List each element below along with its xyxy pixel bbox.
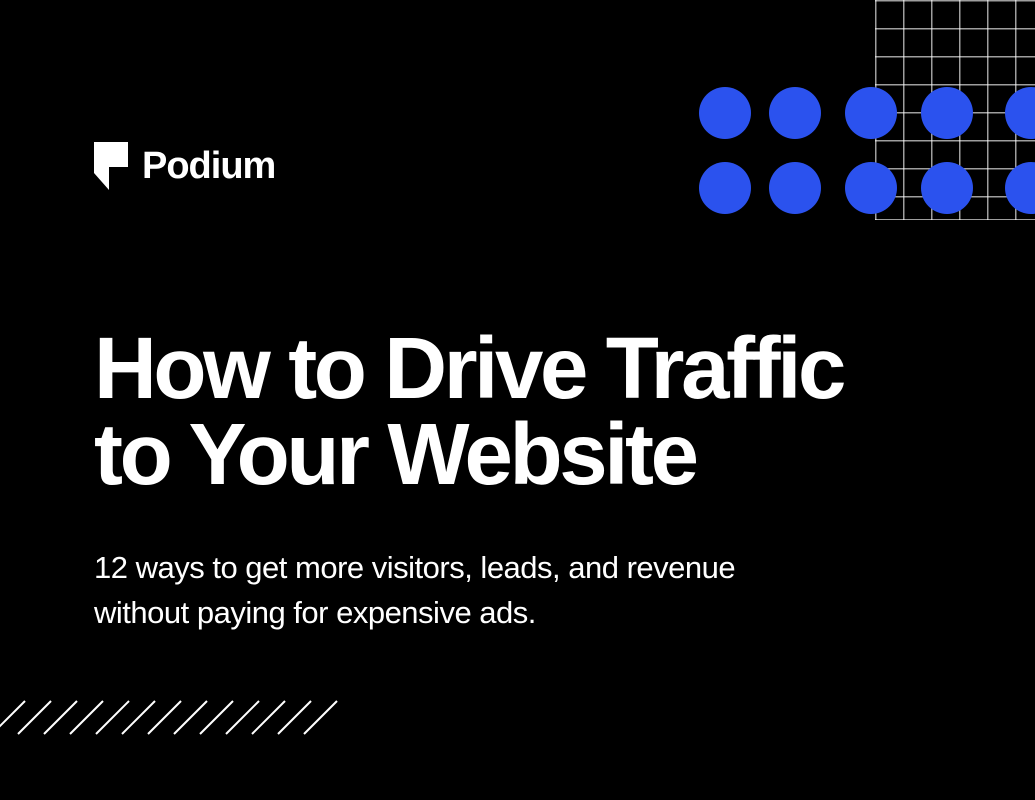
diagonal-stripes-decoration — [0, 698, 352, 736]
page-subtitle-line-2: without paying for expensive ads. — [94, 590, 894, 635]
page-title-line-1: How to Drive Traffic — [94, 326, 994, 412]
diagonal-stripe — [44, 701, 77, 734]
podium-logo-mark-icon — [94, 142, 128, 190]
diagonal-stripe — [200, 701, 233, 734]
cover-slide: Podium How to Drive Traffic to Your Webs… — [0, 0, 1035, 800]
page-subtitle-line-1: 12 ways to get more visitors, leads, and… — [94, 545, 894, 590]
diagonal-stripe — [96, 701, 129, 734]
grid-pattern-decoration — [875, 0, 1035, 220]
diagonal-stripe — [148, 701, 181, 734]
diagonal-stripe — [0, 701, 25, 734]
decorative-dot — [699, 87, 751, 139]
diagonal-stripe — [304, 701, 337, 734]
diagonal-stripe — [70, 701, 103, 734]
diagonal-stripe — [122, 701, 155, 734]
diagonal-stripe — [18, 701, 51, 734]
podium-wordmark: Podium — [142, 147, 275, 185]
page-title: How to Drive Traffic to Your Website — [94, 326, 994, 498]
diagonal-stripe — [252, 701, 285, 734]
podium-logo: Podium — [94, 142, 275, 190]
diagonal-stripe — [174, 701, 207, 734]
decorative-dot — [769, 87, 821, 139]
diagonal-stripe — [226, 701, 259, 734]
diagonal-stripe — [278, 701, 311, 734]
decorative-dot — [769, 162, 821, 214]
decorative-dot — [699, 162, 751, 214]
page-subtitle: 12 ways to get more visitors, leads, and… — [94, 545, 894, 636]
page-title-line-2: to Your Website — [94, 412, 994, 498]
